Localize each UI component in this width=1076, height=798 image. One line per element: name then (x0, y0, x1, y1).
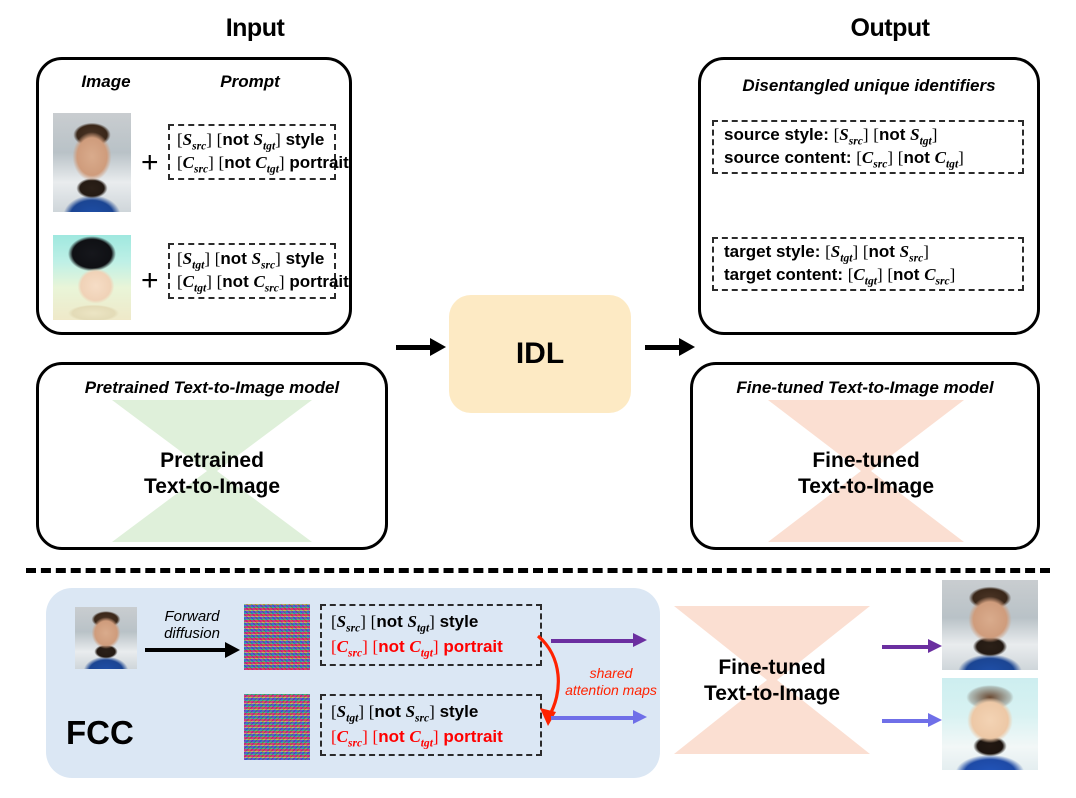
fcc-finetuned-hourglass-label: Fine-tuned Text-to-Image (672, 655, 872, 708)
fcc-model-line2: Text-to-Image (672, 681, 872, 707)
output-panel (698, 57, 1040, 335)
input-prompt-box-target: [Stgt] [not Ssrc] style [Ctgt] [not Csrc… (168, 243, 336, 299)
noise-latent-top (244, 604, 310, 670)
forward-diffusion-line2: diffusion (150, 625, 234, 642)
fcc-model-line1: Fine-tuned (672, 655, 872, 681)
finetuned-label-line2: Text-to-Image (766, 474, 966, 500)
result-photo-realistic-man (942, 580, 1038, 670)
figure-canvas: Input Output Image Prompt + [Ssrc] [not … (0, 0, 1076, 798)
fcc-prompt-line-content: [Csrc] [not Ctgt] portrait (331, 725, 503, 752)
noise-latent-bottom (244, 694, 310, 760)
output-line-source-content: source content: [Csrc] [not Ctgt] (724, 146, 964, 173)
source-photo-realistic-man (53, 113, 131, 212)
input-image-column-label: Image (56, 72, 156, 92)
shared-attention-line2: attention maps (556, 682, 666, 699)
forward-diffusion-line1: Forward (150, 608, 234, 625)
finetuned-model-caption: Fine-tuned Text-to-Image model (690, 378, 1040, 398)
finetuned-hourglass-label: Fine-tuned Text-to-Image (766, 448, 966, 501)
target-anime-portrait (53, 235, 131, 320)
pretrained-hourglass-label: Pretrained Text-to-Image (112, 448, 312, 501)
input-prompt-box-source: [Ssrc] [not Stgt] style [Csrc] [not Ctgt… (168, 124, 336, 180)
output-section-title: Output (775, 14, 1005, 43)
fcc-source-photo (75, 607, 137, 669)
result-anime-style-man (942, 678, 1038, 770)
idl-label: IDL (516, 337, 564, 371)
prompt-line-content: [Ctgt] [not Csrc] portrait (177, 270, 349, 297)
prompt-line-content: [Csrc] [not Ctgt] portrait (177, 151, 349, 178)
input-section-title: Input (140, 14, 370, 43)
forward-diffusion-label: Forward diffusion (150, 608, 234, 643)
fcc-prompt-line-style: [Stgt] [not Ssrc] style (331, 700, 478, 727)
output-line-target-content: target content: [Ctgt] [not Csrc] (724, 263, 955, 290)
finetuned-label-line1: Fine-tuned (766, 448, 966, 474)
plus-sign-row1: + (141, 146, 159, 180)
output-source-identifier-box: source style: [Ssrc] [not Stgt] source c… (712, 120, 1024, 174)
fcc-label: FCC (66, 714, 134, 752)
plus-sign-row2: + (141, 264, 159, 298)
input-prompt-column-label: Prompt (180, 72, 320, 92)
pretrained-model-caption: Pretrained Text-to-Image model (36, 378, 388, 398)
output-target-identifier-box: target style: [Stgt] [not Ssrc] target c… (712, 237, 1024, 291)
fcc-prompt-box-source: [Ssrc] [not Stgt] style [Csrc] [not Ctgt… (320, 604, 542, 666)
fcc-prompt-line-style: [Ssrc] [not Stgt] style (331, 610, 478, 637)
output-panel-caption: Disentangled unique identifiers (698, 76, 1040, 96)
pretrained-label-line1: Pretrained (112, 448, 312, 474)
fcc-prompt-line-content: [Csrc] [not Ctgt] portrait (331, 635, 503, 662)
section-divider (26, 568, 1050, 573)
fcc-prompt-box-target: [Stgt] [not Ssrc] style [Csrc] [not Ctgt… (320, 694, 542, 756)
shared-attention-line1: shared (556, 665, 666, 682)
shared-attention-label: shared attention maps (556, 665, 666, 699)
idl-box: IDL (449, 295, 631, 413)
pretrained-label-line2: Text-to-Image (112, 474, 312, 500)
